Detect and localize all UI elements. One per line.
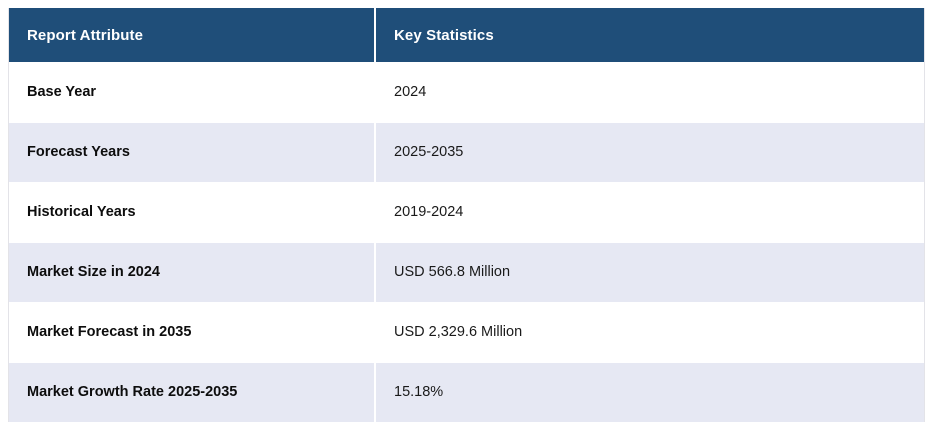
table-row: Market Size in 2024 USD 566.8 Million [9, 242, 924, 302]
cell-value-historical-years: 2019-2024 [375, 182, 924, 242]
cell-value-base-year: 2024 [375, 62, 924, 122]
cell-attribute-market-size-2024: Market Size in 2024 [9, 242, 375, 302]
cell-attribute-market-forecast-2035: Market Forecast in 2035 [9, 302, 375, 362]
cell-attribute-historical-years: Historical Years [9, 182, 375, 242]
cell-attribute-market-growth-rate: Market Growth Rate 2025-2035 [9, 362, 375, 422]
cell-attribute-base-year: Base Year [9, 62, 375, 122]
cell-value-market-forecast-2035: USD 2,329.6 Million [375, 302, 924, 362]
cell-value-market-size-2024: USD 566.8 Million [375, 242, 924, 302]
table-header-row: Report Attribute Key Statistics [9, 8, 924, 62]
table-row: Historical Years 2019-2024 [9, 182, 924, 242]
report-statistics-table-container: Report Attribute Key Statistics Base Yea… [8, 8, 925, 422]
table-row: Forecast Years 2025-2035 [9, 122, 924, 182]
column-header-key-statistics: Key Statistics [375, 8, 924, 62]
column-header-report-attribute: Report Attribute [9, 8, 375, 62]
table-body: Base Year 2024 Forecast Years 2025-2035 … [9, 62, 924, 422]
cell-attribute-forecast-years: Forecast Years [9, 122, 375, 182]
report-key-statistics-table: Report Attribute Key Statistics Base Yea… [9, 8, 924, 422]
cell-value-market-growth-rate: 15.18% [375, 362, 924, 422]
table-row: Market Forecast in 2035 USD 2,329.6 Mill… [9, 302, 924, 362]
table-row: Base Year 2024 [9, 62, 924, 122]
table-row: Market Growth Rate 2025-2035 15.18% [9, 362, 924, 422]
table-header: Report Attribute Key Statistics [9, 8, 924, 62]
cell-value-forecast-years: 2025-2035 [375, 122, 924, 182]
